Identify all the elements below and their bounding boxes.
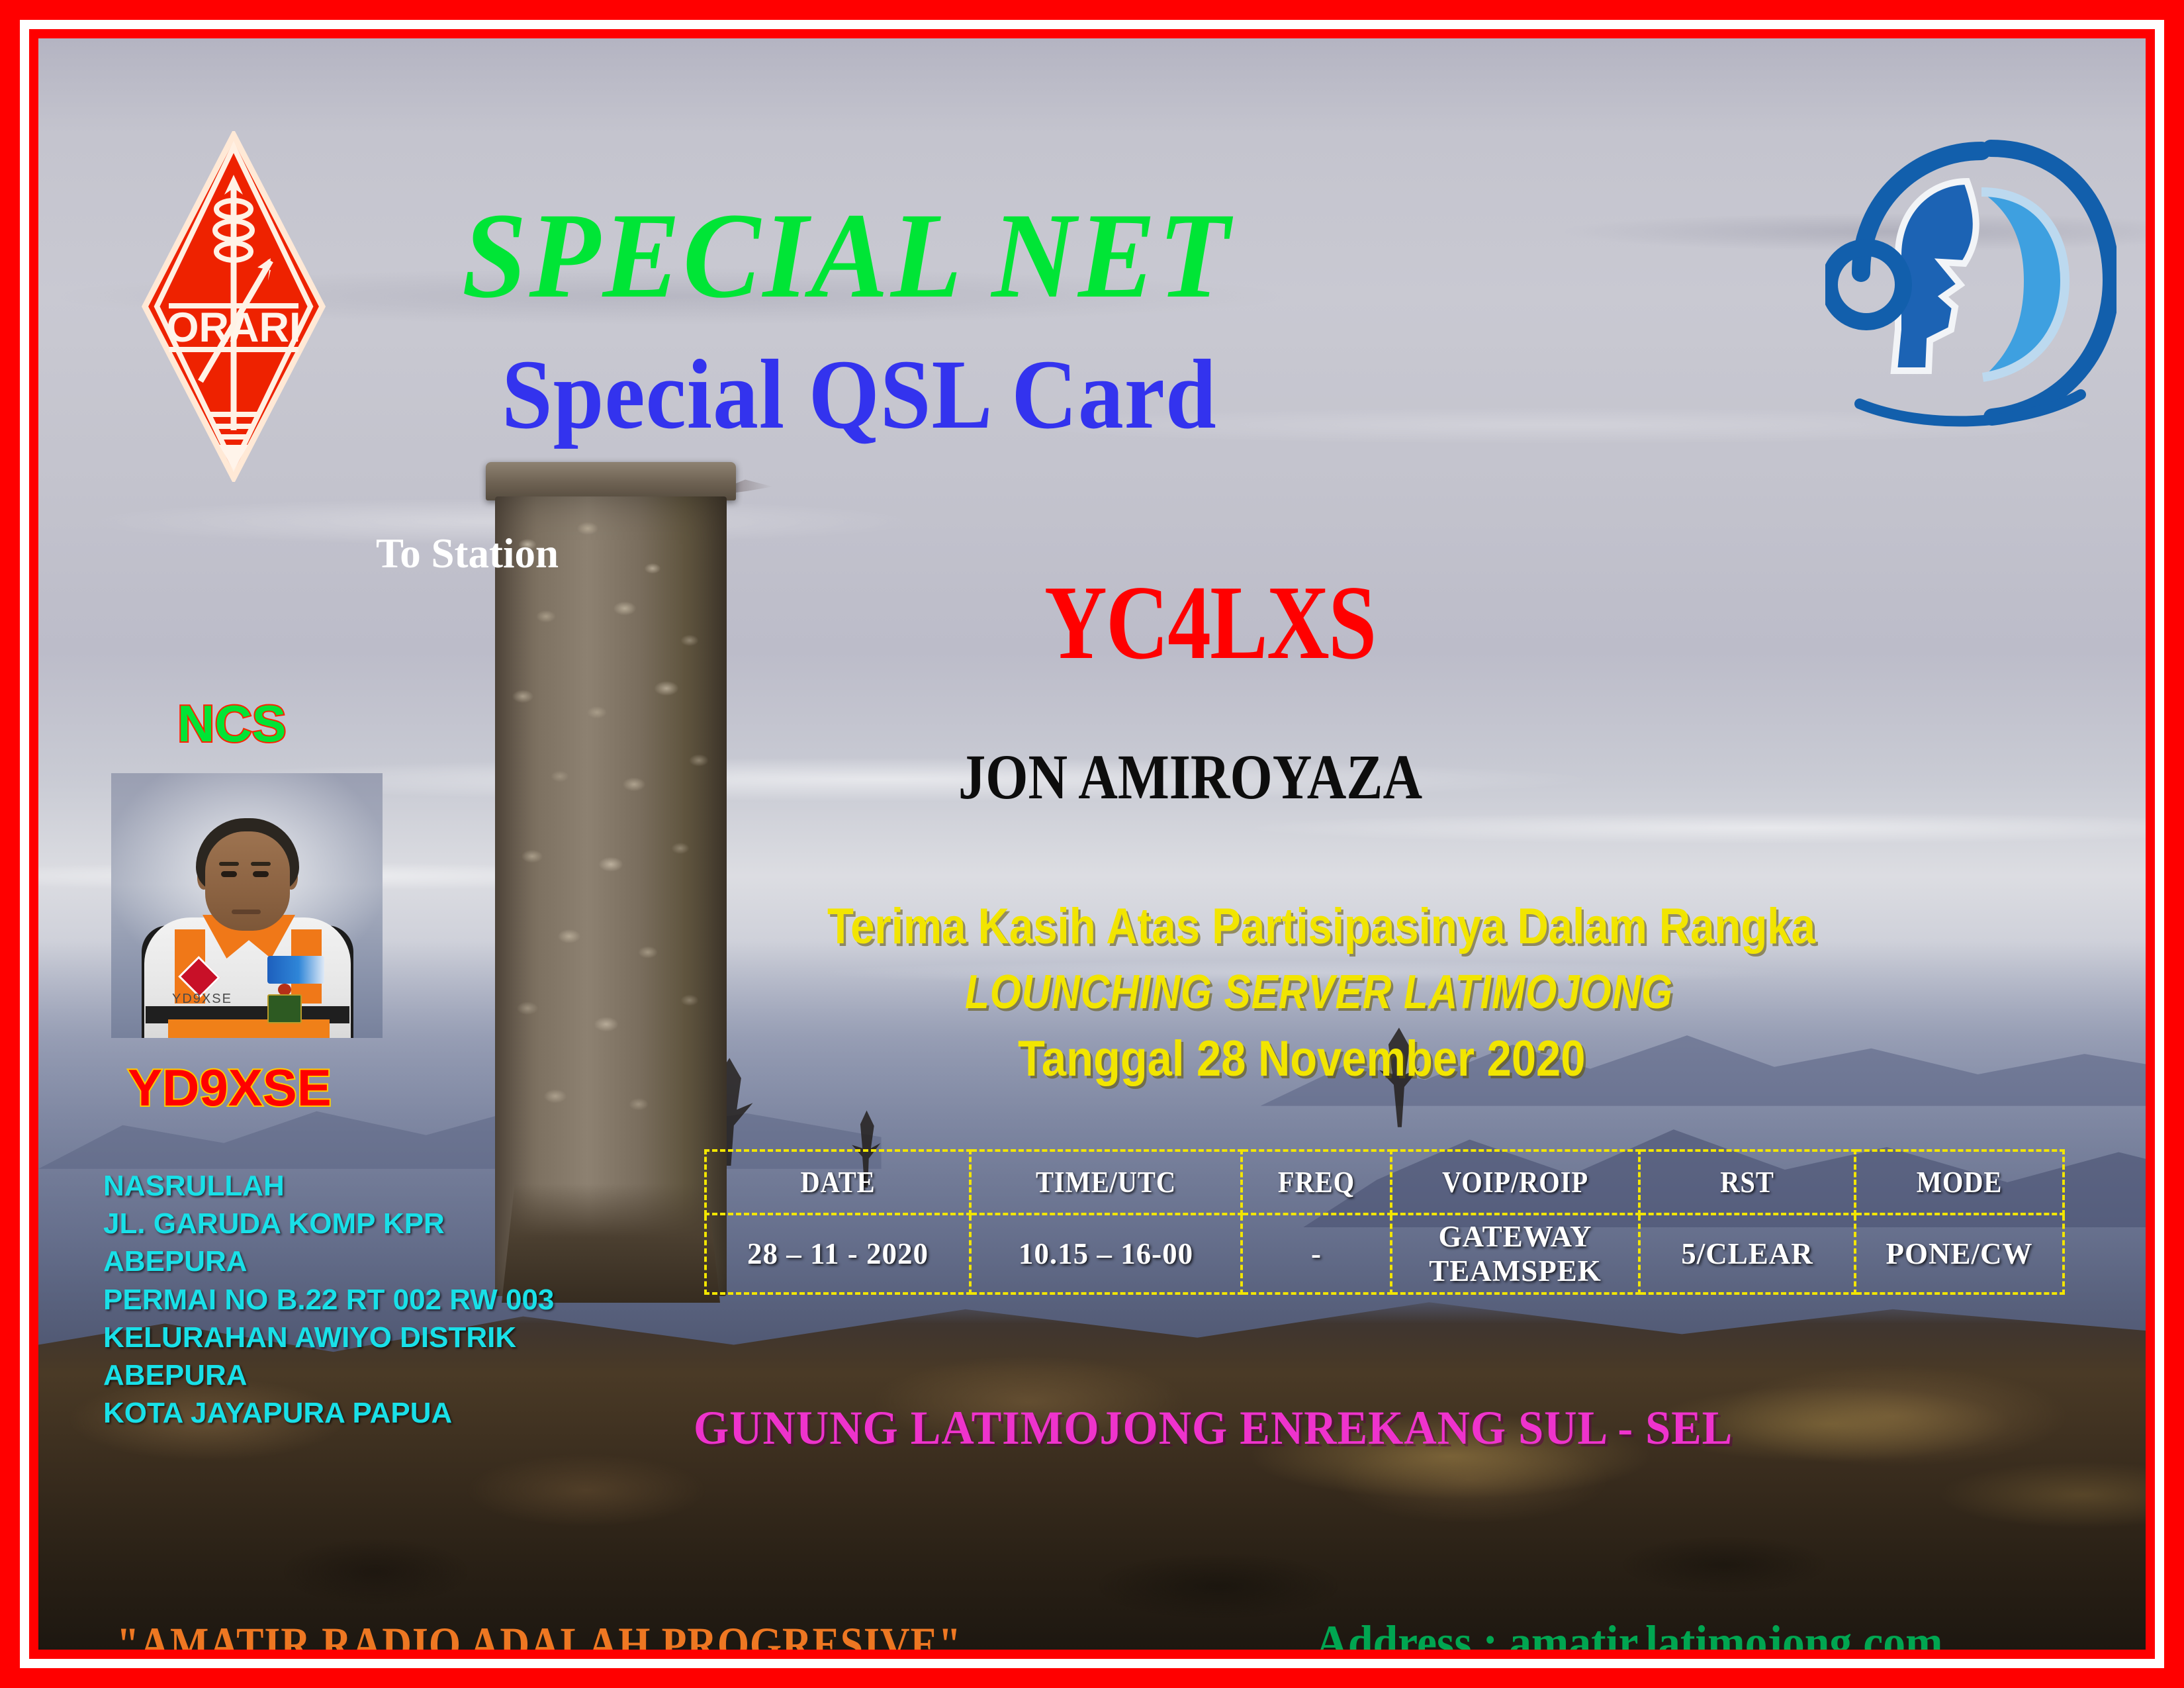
cell-mode: PONE/CW — [1855, 1214, 2064, 1293]
cell-time: 10.15 – 16-00 — [970, 1214, 1242, 1293]
ncs-operator-photo: YD9XSE — [111, 773, 383, 1038]
eyebrow-left — [219, 862, 239, 866]
operator-name: JON AMIROYAZA — [958, 740, 1422, 814]
web-address[interactable]: Address : amatir.latimojong.com — [1316, 1615, 1942, 1650]
grass-tussocks — [1134, 1327, 2146, 1650]
event-thanks-line: Terima Kasih Atas Partisipasinya Dalam R… — [827, 898, 1815, 955]
mouth — [232, 910, 261, 914]
qso-log-table: DATE TIME/UTC FREQ VOIP/ROIP RST MODE 28… — [704, 1149, 2065, 1295]
slogan-text: "AMATIR RADIO ADALAH PROGRESIVE" — [116, 1617, 962, 1650]
cell-date: 28 – 11 - 2020 — [705, 1214, 970, 1293]
event-title-line: LOUNCHING SERVER LATIMOJONG — [965, 965, 1673, 1019]
page-title: SPECIAL NET — [462, 185, 1232, 326]
card-photo-background: ORARI — [38, 38, 2146, 1650]
location-line: GUNUNG LATIMOJONG ENREKANG SUL - SEL — [694, 1401, 1733, 1456]
card-inner-red-frame: ORARI — [29, 29, 2155, 1659]
ncs-label: NCS — [177, 694, 287, 754]
eyebrow-right — [251, 862, 271, 866]
address-block: NASRULLAH JL. GARUDA KOMP KPR ABEPURA PE… — [103, 1167, 554, 1432]
page-subtitle: Special QSL Card — [502, 338, 1217, 451]
to-station-label: To Station — [376, 530, 559, 578]
card-white-frame: ORARI — [20, 20, 2164, 1668]
uniform-callsign-text: YD9XSE — [172, 992, 232, 1007]
event-date-line: Tanggal 28 November 2020 — [1018, 1030, 1585, 1088]
qsl-card: ORARI — [0, 0, 2184, 1688]
orari-logo: ORARI — [141, 131, 326, 482]
column-header-time: TIME/UTC — [984, 1150, 1228, 1214]
voip-headset-profile-icon — [1825, 131, 2116, 429]
column-header-mode: MODE — [1866, 1150, 2054, 1214]
eye-left — [221, 871, 237, 877]
cell-rst: 5/CLEAR — [1639, 1214, 1855, 1293]
column-header-date: DATE — [719, 1150, 957, 1214]
column-header-freq: FREQ — [1249, 1150, 1383, 1214]
face — [205, 831, 290, 931]
address-line: KOTA JAYAPURA PAPUA — [103, 1394, 554, 1432]
eye-right — [253, 871, 269, 877]
address-line: ABEPURA — [103, 1356, 554, 1394]
uniform-badge — [267, 956, 324, 984]
table-header-row: DATE TIME/UTC FREQ VOIP/ROIP RST MODE — [705, 1150, 2064, 1214]
cell-freq: - — [1242, 1214, 1391, 1293]
column-header-voip: VOIP/ROIP — [1404, 1150, 1627, 1214]
id-badge — [267, 994, 302, 1023]
address-line: NASRULLAH — [103, 1167, 554, 1205]
orari-logo-label: ORARI — [167, 305, 301, 351]
ncs-callsign: YD9XSE — [128, 1058, 332, 1118]
uniform-sash — [168, 1019, 330, 1038]
address-line: KELURAHAN AWIYO DISTRIK — [103, 1319, 554, 1356]
cell-voip: GATEWAY TEAMSPEK — [1391, 1214, 1639, 1293]
cairn-cap — [486, 462, 736, 500]
address-line: PERMAI NO B.22 RT 002 RW 003 — [103, 1281, 554, 1319]
address-line: ABEPURA — [103, 1243, 554, 1280]
column-header-rst: RST — [1650, 1150, 1844, 1214]
address-line: JL. GARUDA KOMP KPR — [103, 1205, 554, 1243]
station-callsign: YC4LXS — [1044, 561, 1375, 684]
table-row: 28 – 11 - 2020 10.15 – 16-00 - GATEWAY T… — [705, 1214, 2064, 1293]
